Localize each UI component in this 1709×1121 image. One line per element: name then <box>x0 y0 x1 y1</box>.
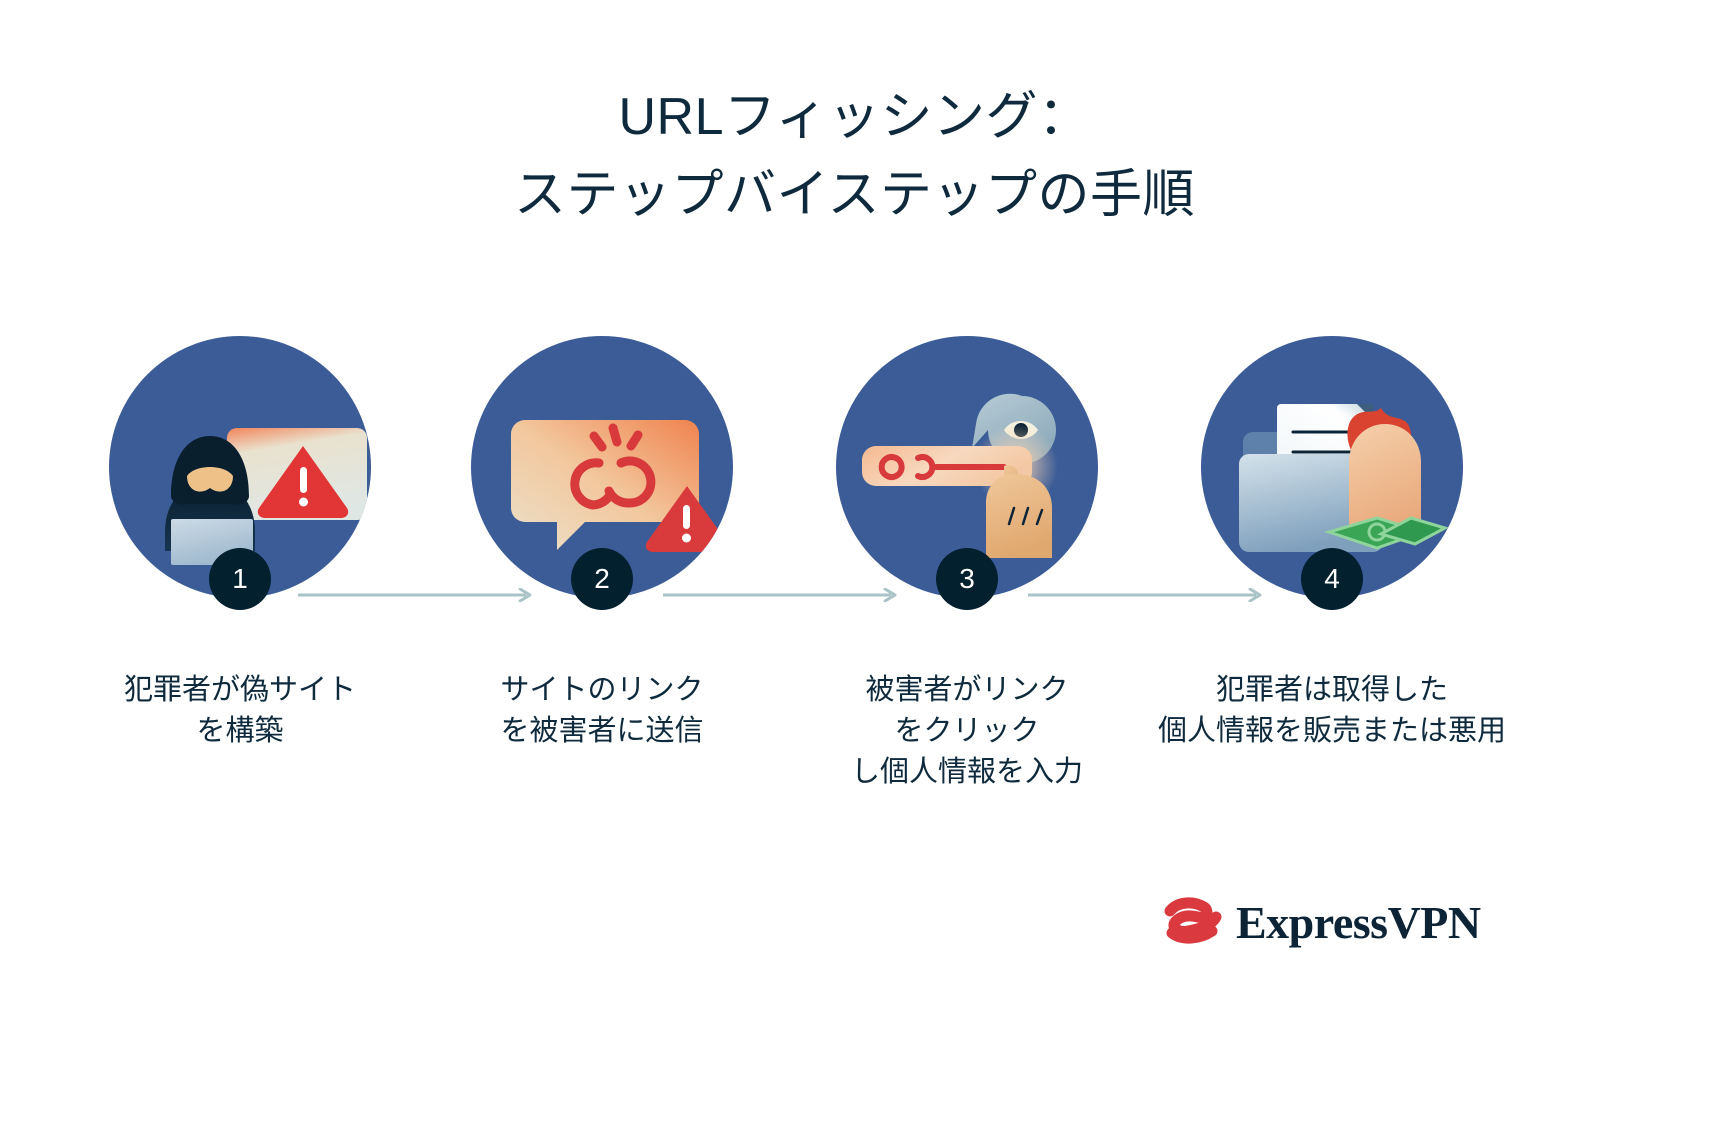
step-3-caption: 被害者がリンク をクリック し個人情報を入力 <box>777 670 1157 793</box>
page-title: URLフィッシング： ステップバイステップの手順 <box>0 78 1709 234</box>
expressvpn-logo: ExpressVPN <box>1160 895 1481 949</box>
step-4-caption: 犯罪者は取得した 個人情報を販売または悪用 <box>1142 670 1522 752</box>
step-1: 1 犯罪者が偽サイト を構築 <box>50 336 430 752</box>
arrow-step1-to-step2 <box>298 588 536 602</box>
steps-row: 1 犯罪者が偽サイト を構築 <box>0 336 1709 836</box>
step-3-badge: 3 <box>936 548 998 610</box>
step-4: 4 犯罪者は取得した 個人情報を販売または悪用 <box>1142 336 1522 752</box>
step-2-illustration: 2 <box>471 336 733 598</box>
step-3: 3 被害者がリンク をクリック し個人情報を入力 <box>777 336 1157 793</box>
arrow-step3-to-step4 <box>1028 588 1266 602</box>
step-1-caption: 犯罪者が偽サイト を構築 <box>50 670 430 752</box>
step-2: 2 サイトのリンク を被害者に送信 <box>412 336 792 752</box>
arrow-step2-to-step3 <box>663 588 901 602</box>
step-2-caption: サイトのリンク を被害者に送信 <box>412 670 792 752</box>
step-4-illustration: 4 <box>1201 336 1463 598</box>
expressvpn-wordmark: ExpressVPN <box>1236 896 1481 949</box>
expressvpn-logo-mark <box>1160 895 1222 949</box>
title-line-1: URLフィッシング： <box>0 78 1709 156</box>
step-1-illustration: 1 <box>109 336 371 598</box>
title-line-2: ステップバイステップの手順 <box>0 156 1709 234</box>
step-2-badge: 2 <box>571 548 633 610</box>
step-4-badge: 4 <box>1301 548 1363 610</box>
step-1-badge: 1 <box>209 548 271 610</box>
step-3-illustration: 3 <box>836 336 1098 598</box>
